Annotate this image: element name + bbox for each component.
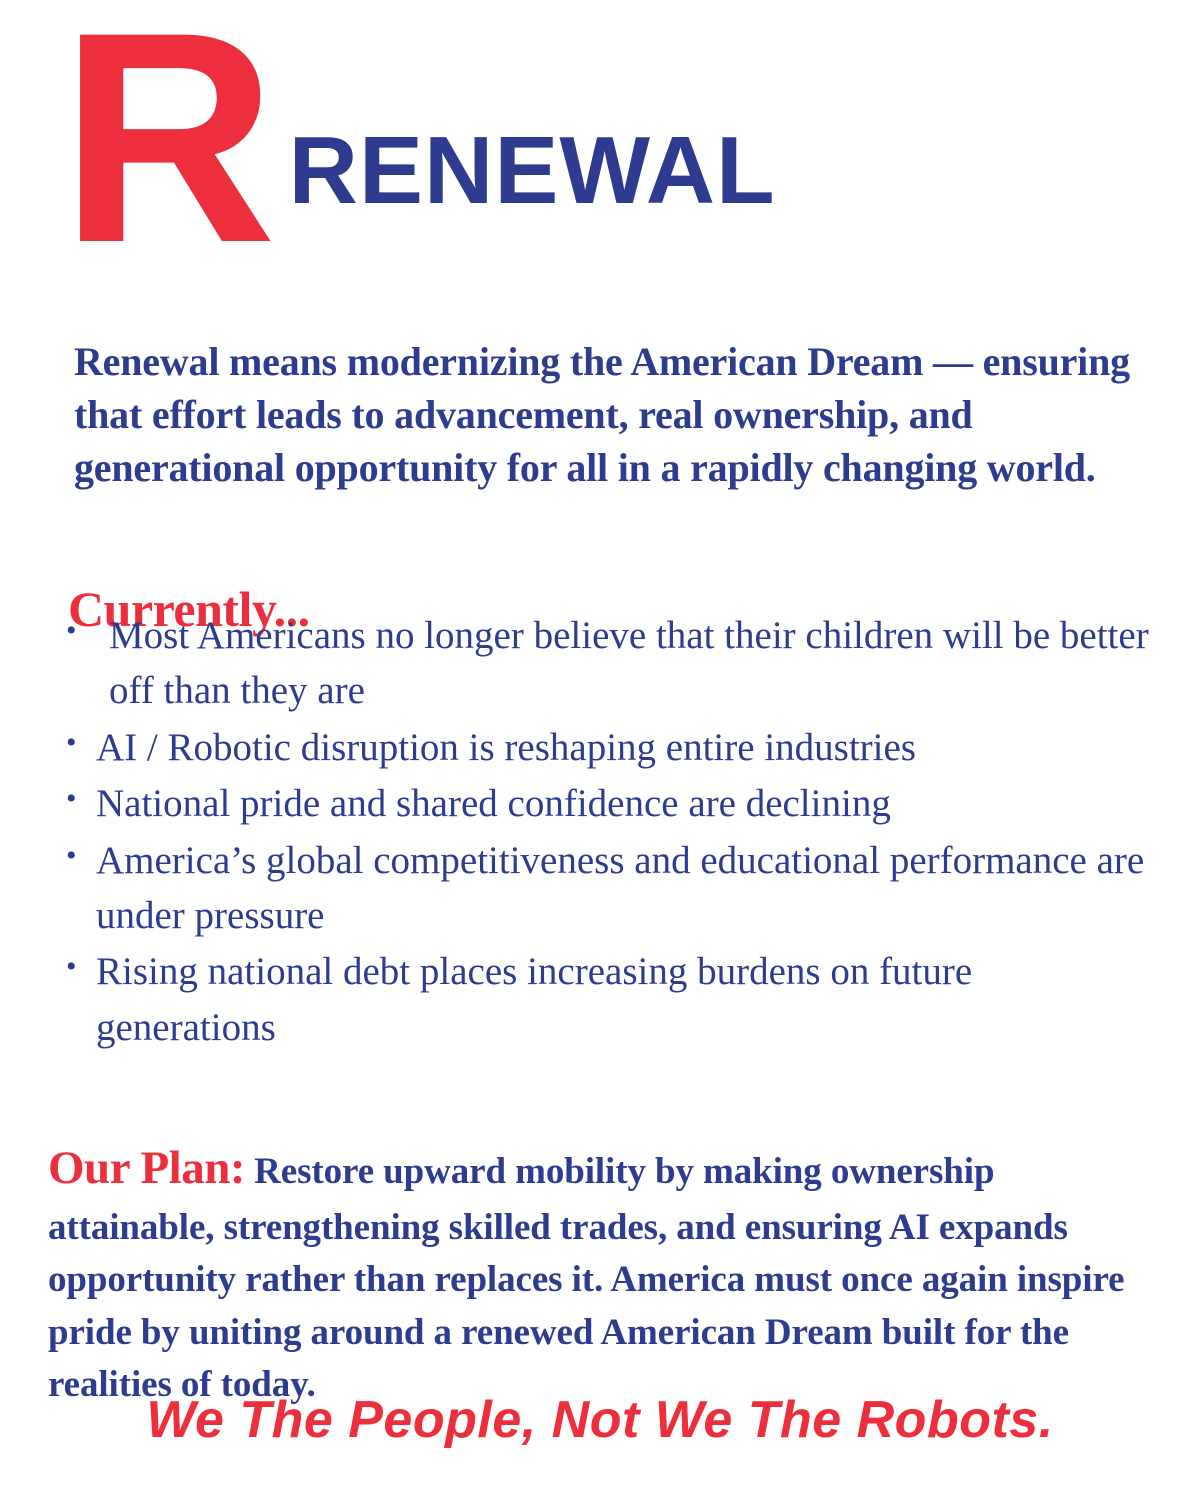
list-item: • National pride and shared confidence a… [62, 776, 1157, 831]
bullet-dot-icon: • [66, 943, 77, 991]
poster-page: R RENEWAL Renewal means modernizing the … [0, 0, 1200, 1500]
plan-paragraph: Our Plan: Restore upward mobility by mak… [48, 1135, 1158, 1412]
bullet-dot-icon: • [66, 607, 77, 655]
plan-label: Our Plan: [48, 1142, 245, 1194]
logo-wordmark: RENEWAL [289, 123, 776, 219]
list-item: • AI / Robotic disruption is reshaping e… [62, 720, 1157, 775]
bullet-dot-icon: • [66, 775, 77, 823]
bullet-dot-icon: • [66, 832, 77, 880]
list-item-label: AI / Robotic disruption is reshaping ent… [96, 720, 1157, 775]
list-item-label: Most Americans no longer believe that th… [109, 608, 1157, 719]
list-item-label: National pride and shared confidence are… [96, 776, 1157, 831]
list-item: • Rising national debt places increasing… [62, 944, 1157, 1055]
currently-bullet-list: • Most Americans no longer believe that … [62, 608, 1157, 1056]
logo-initial-r: R [60, 14, 271, 260]
list-item-label: Rising national debt places increasing b… [96, 944, 1157, 1055]
tagline: We The People, Not We The Robots. [0, 1392, 1200, 1449]
list-item: • Most Americans no longer believe that … [62, 608, 1157, 719]
list-item: • America’s global competitiveness and e… [62, 833, 1157, 944]
bullet-dot-icon: • [66, 719, 77, 767]
logo: R RENEWAL [60, 28, 776, 286]
intro-paragraph: Renewal means modernizing the American D… [74, 336, 1150, 494]
list-item-label: America’s global competitiveness and edu… [96, 833, 1157, 944]
